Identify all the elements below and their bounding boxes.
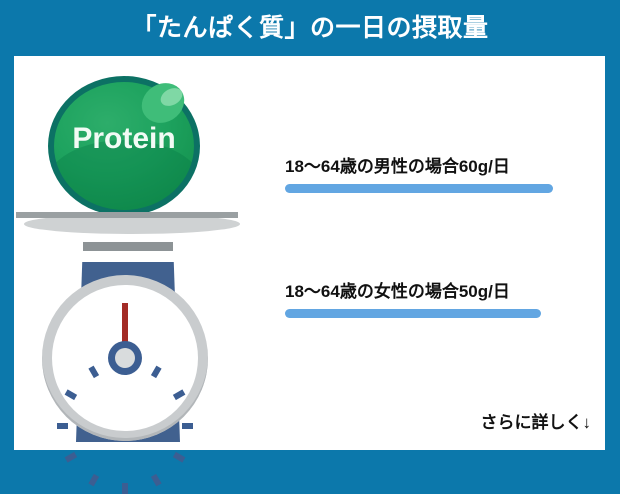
stat-female: 18〜64歳の女性の場合50g/日 — [285, 281, 541, 318]
page-title: 「たんぱく質」の一日の摂取量 — [0, 12, 620, 44]
dial-tick — [65, 452, 78, 463]
stat-male: 18〜64歳の男性の場合60g/日 — [285, 156, 553, 193]
dial-tick — [173, 452, 186, 463]
dial-tick — [151, 366, 162, 379]
dial-tick — [151, 474, 162, 487]
stat-male-text: 18〜64歳の男性の場合60g/日 — [285, 156, 553, 178]
stat-male-underline — [285, 184, 553, 193]
dial-tick — [57, 423, 68, 429]
scale-pan-surface — [16, 212, 238, 218]
dial-hub-center — [115, 348, 135, 368]
dial-tick — [173, 389, 186, 400]
stat-female-text: 18〜64歳の女性の場合50g/日 — [285, 281, 541, 303]
scale-dial-face — [52, 285, 198, 431]
protein-ball-label: Protein — [48, 124, 200, 154]
dial-tick — [182, 423, 193, 429]
slide-root: 「たんぱく質」の一日の摂取量 Protein — [0, 0, 620, 465]
dial-tick — [88, 366, 99, 379]
dial-tick — [88, 474, 99, 487]
more-details-link[interactable]: さらに詳しく↓ — [481, 412, 592, 434]
content-card: Protein 18〜64歳の男性の場合60g/日 — [14, 56, 605, 450]
dial-tick — [122, 483, 128, 494]
protein-ball-illustration: Protein — [48, 76, 200, 216]
dial-tick — [65, 389, 78, 400]
stat-female-underline — [285, 309, 541, 318]
scale-post — [83, 242, 173, 251]
